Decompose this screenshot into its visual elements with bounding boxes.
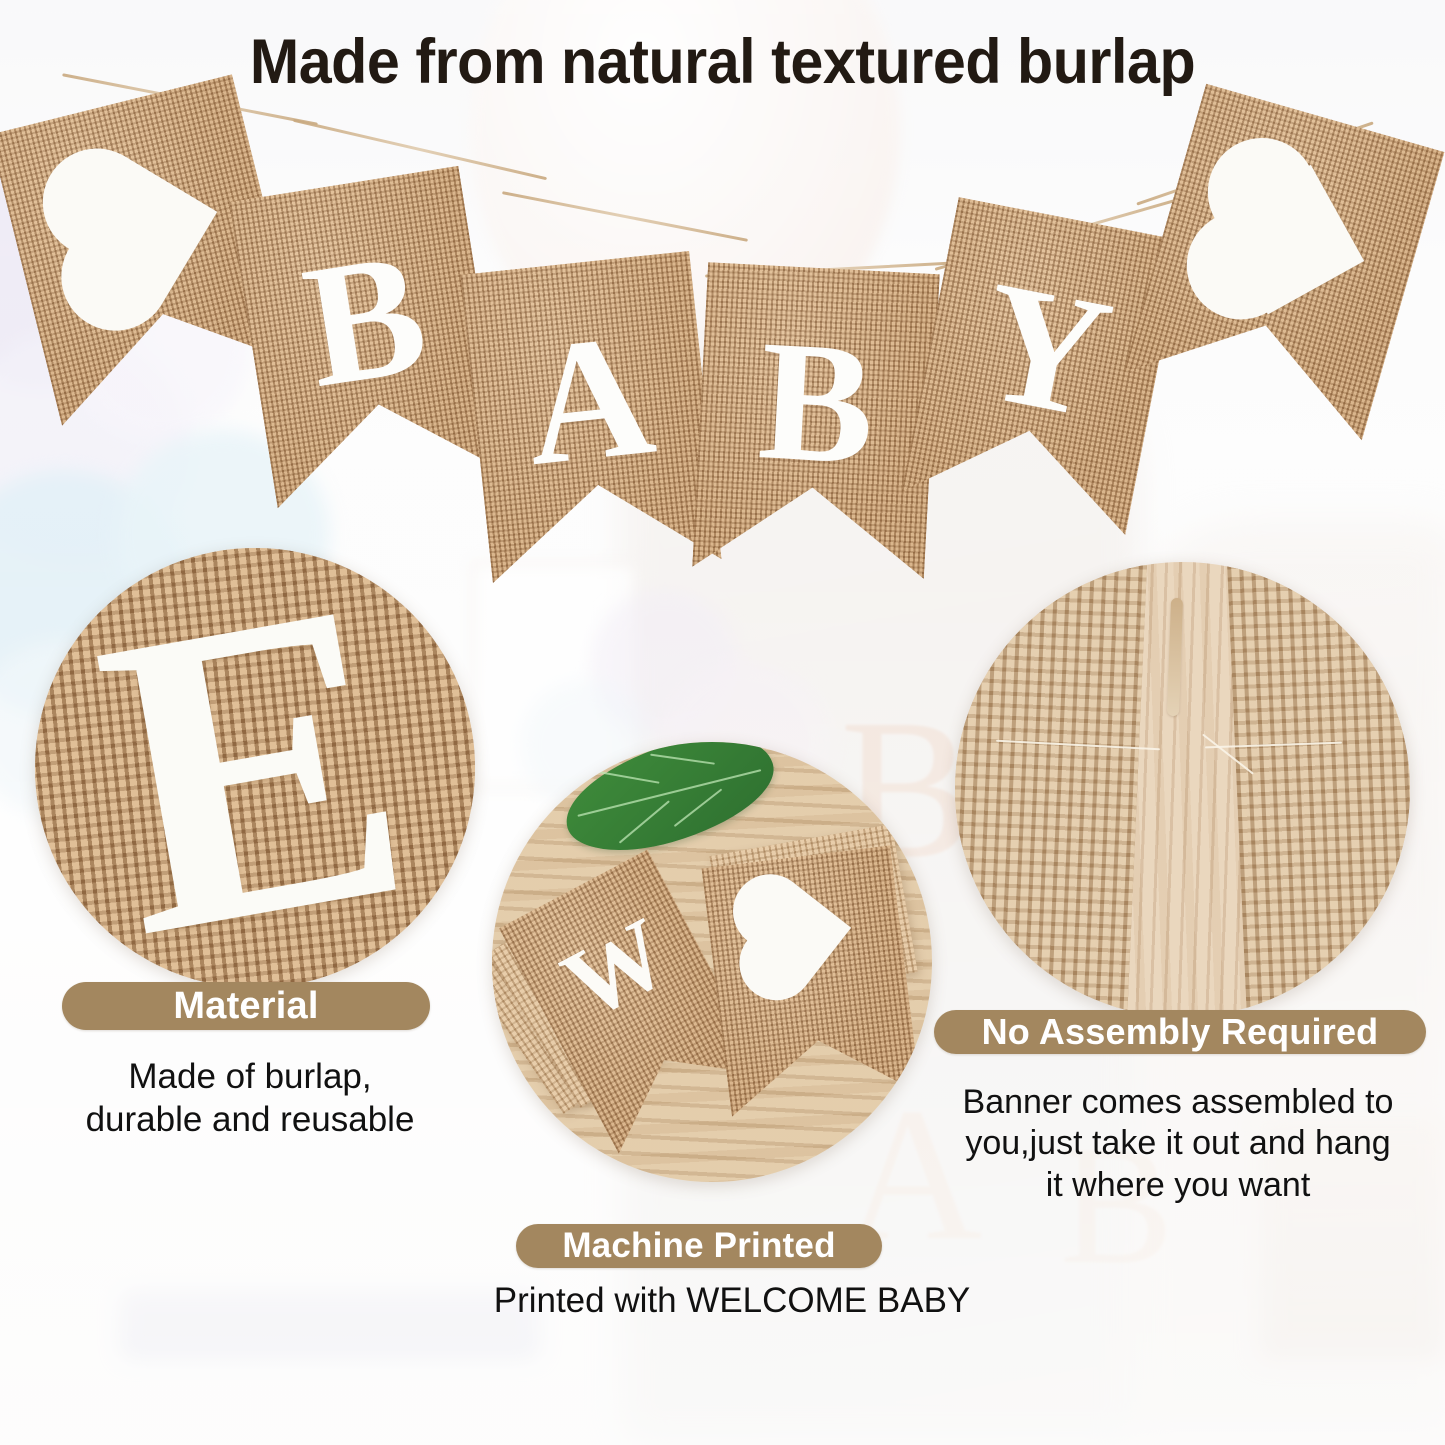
banner-flag-letter-a: A [460, 251, 721, 583]
twine-segment [293, 119, 547, 180]
heart-icon: .flag .heart-shape:before{ left:-54px; t… [69, 156, 217, 304]
banner-flag-heart-right [1123, 84, 1444, 441]
feature-text-line: durable and reusable [50, 1099, 450, 1142]
detail-photo-material: E [35, 548, 475, 988]
flag-letter: A [466, 300, 713, 498]
leaf-vein [650, 754, 714, 765]
feature-text-line: Made of burlap, [50, 1056, 450, 1099]
feature-text-line: you,just take it out and hang [918, 1123, 1438, 1164]
feature-text-no-assembly: Banner comes assembled to you,just take … [918, 1082, 1438, 1206]
heart-icon [748, 883, 852, 987]
flag-letter: B [697, 311, 938, 495]
feature-label-material: Material [62, 982, 430, 1030]
burlap-flag-edge-right [1226, 562, 1410, 1017]
twine-segment [502, 191, 748, 242]
detail-photo-printed: W [492, 742, 932, 1182]
detail-photo-assembly [955, 562, 1410, 1017]
feature-label-no-assembly: No Assembly Required [934, 1010, 1426, 1054]
page-title: Made from natural textured burlap [43, 26, 1401, 98]
feature-text-material: Made of burlap, durable and reusable [50, 1056, 450, 1141]
feature-text-line: Banner comes assembled to [918, 1082, 1438, 1123]
flag-letter: B [237, 215, 494, 424]
feature-text-machine-printed: Printed with WELCOME BABY [432, 1280, 1032, 1323]
infographic-canvas: B A B Made from natural textured burlap … [0, 0, 1445, 1445]
burlap-flag-edge-left [955, 562, 1148, 1017]
leaf-vein [595, 771, 659, 784]
heart-icon [1215, 165, 1365, 315]
macro-letter-e: E [86, 586, 424, 949]
leaf-vein [674, 789, 723, 828]
leaf-vein [619, 801, 670, 844]
feature-label-machine-printed: Machine Printed [516, 1224, 882, 1268]
banner-flag-letter-b2: B [692, 262, 940, 579]
leaf-vein [578, 769, 762, 817]
feature-text-line: it where you want [918, 1165, 1438, 1206]
banner-flag-letter-b1: B [229, 166, 507, 508]
